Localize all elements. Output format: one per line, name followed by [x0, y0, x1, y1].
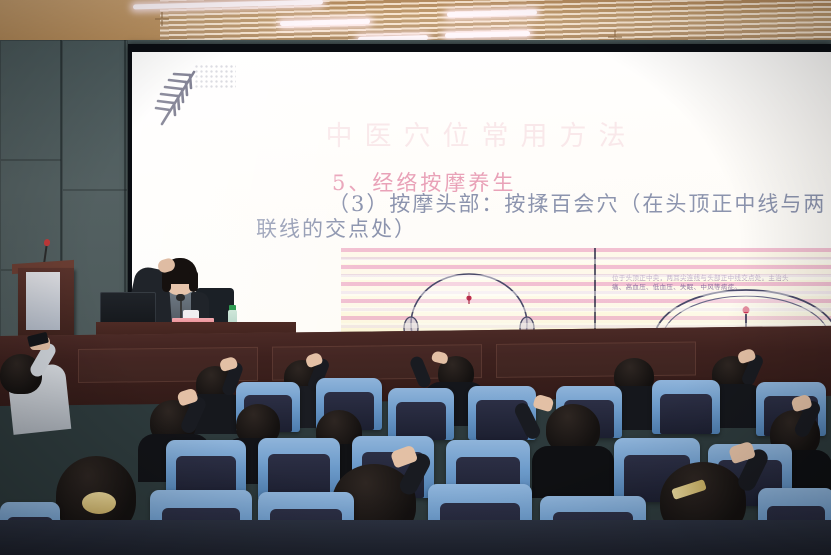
wall-panel	[0, 160, 62, 270]
seat[interactable]	[652, 380, 720, 434]
presenter-hair-side	[189, 270, 198, 292]
audience-hand	[431, 350, 449, 365]
seat[interactable]	[258, 438, 340, 500]
baihui-note-text: 位于头顶正中央，两耳尖连线与头部正中线交点处。主治头痛、高血压、低血压、失眠、中…	[612, 274, 802, 291]
audience-arm	[408, 355, 432, 390]
audience-body	[532, 446, 614, 498]
seat[interactable]	[388, 388, 454, 440]
wall-panel	[62, 40, 128, 190]
presenter-hair-side	[162, 270, 171, 292]
hair-scrunchie	[82, 492, 116, 514]
podium-front-panel	[26, 272, 60, 330]
lecture-hall-photo: 中医穴位常用方法 5、经络按摩养生 （3）按摩头部：按揉百会穴（在头顶正中线与两…	[0, 0, 831, 555]
slide-faded-title: 中医穴位常用方法	[132, 114, 831, 153]
desk-microphone-head	[176, 294, 185, 301]
slide-body-line-2: 联线的交点处）	[256, 217, 417, 242]
projection-screen: 中医穴位常用方法 5、经络按摩养生 （3）按摩头部：按揉百会穴（在头顶正中线与两…	[132, 52, 831, 344]
slide-body-line-1: （3）按摩头部：按揉百会穴（在头顶正中线与两	[328, 192, 826, 217]
decorative-dots	[194, 64, 236, 90]
floor	[0, 520, 831, 555]
wall-panel	[0, 40, 62, 160]
ceiling-vent-icon	[155, 12, 169, 26]
